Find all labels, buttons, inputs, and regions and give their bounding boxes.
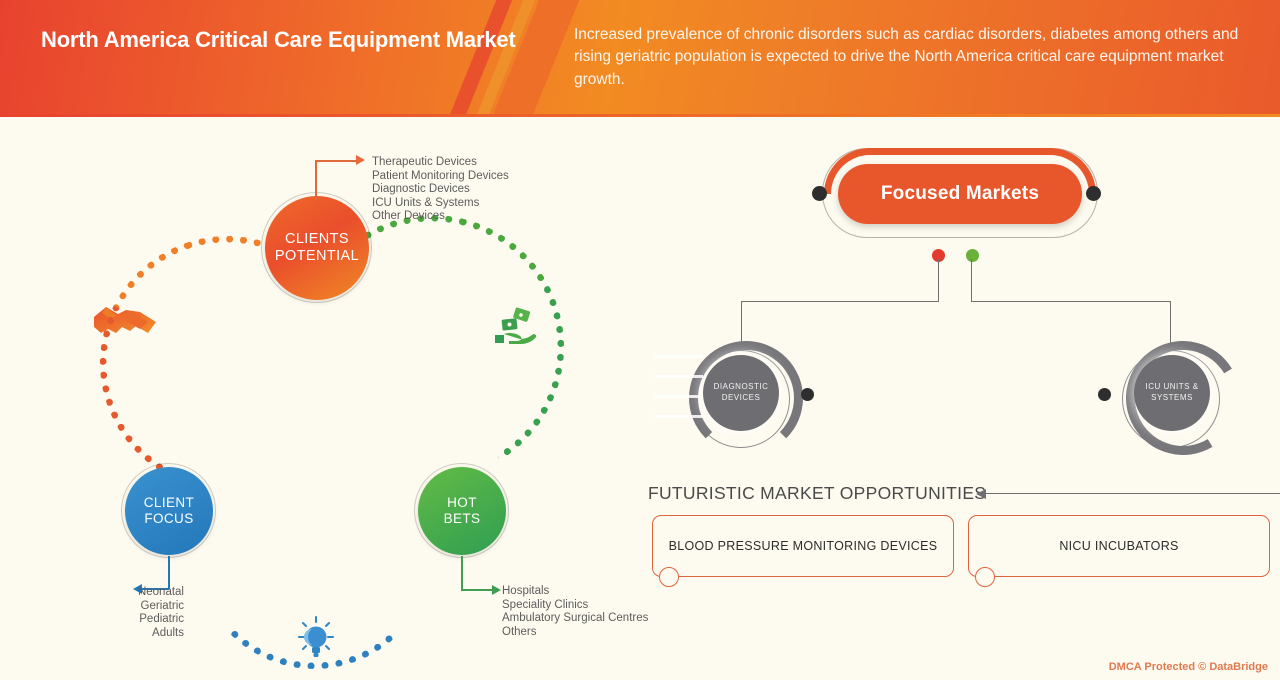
header-banner: North America Critical Care Equipment Ma… — [0, 0, 1280, 116]
opportunity-card-nicu-incubators[interactable]: NICU INCUBATORS — [968, 515, 1270, 577]
clients-potential-connector-vertical — [315, 161, 317, 201]
clients-potential-list: Therapeutic Devices Patient Monitoring D… — [372, 156, 509, 224]
list-item: Speciality Clinics — [502, 599, 648, 613]
icu-marker-dot — [966, 249, 979, 262]
hot-bets-connector-vertical — [461, 556, 463, 590]
focused-markets-right-dot — [1086, 186, 1101, 201]
decor-white-line-4 — [655, 415, 703, 418]
hot-bets-connector-horizontal — [461, 589, 492, 591]
hot-bets-label-line1: HOT — [444, 495, 481, 511]
icu-units-systems-label-line2: SYSTEMS — [1145, 393, 1198, 404]
clients-potential-label-line2: POTENTIAL — [275, 248, 359, 265]
diagnostic-devices-label-line2: DEVICES — [714, 393, 769, 404]
focused-markets-banner[interactable]: Focused Markets — [838, 164, 1082, 224]
icu-units-systems-side-dot — [1098, 388, 1111, 401]
futuristic-opportunities-title: FUTURISTIC MARKET OPPORTUNITIES — [648, 483, 986, 504]
money-in-hand-icon — [494, 307, 538, 349]
list-item: ICU Units & Systems — [372, 197, 509, 211]
decor-white-line-2 — [655, 375, 703, 378]
opportunity-label: BLOOD PRESSURE MONITORING DEVICES — [669, 539, 938, 553]
opportunity-label: NICU INCUBATORS — [1059, 539, 1178, 553]
header-description: Increased prevalence of chronic disorder… — [574, 24, 1254, 91]
list-item: Adults — [84, 627, 184, 641]
clients-potential-label-line1: CLIENTS — [275, 231, 359, 248]
connector-green-horizontal — [971, 301, 1171, 302]
copyright-notice: DMCA Protected © DataBridge — [1109, 661, 1268, 673]
client-focus-label-line2: FOCUS — [144, 511, 194, 527]
list-item: Neonatal — [84, 586, 184, 600]
opportunity-knob-1 — [659, 567, 679, 587]
focused-markets-left-dot — [812, 186, 827, 201]
clients-potential-node[interactable]: CLIENTS POTENTIAL — [265, 196, 369, 300]
list-item: Diagnostic Devices — [372, 183, 509, 197]
list-item: Hospitals — [502, 585, 648, 599]
decor-white-line-3 — [655, 395, 703, 398]
connector-green-vertical — [971, 259, 972, 302]
hot-bets-list: Hospitals Speciality Clinics Ambulatory … — [502, 585, 648, 639]
list-item: Ambulatory Surgical Centres — [502, 612, 648, 626]
client-focus-node[interactable]: CLIENT FOCUS — [125, 467, 213, 555]
opportunity-card-blood-pressure[interactable]: BLOOD PRESSURE MONITORING DEVICES — [652, 515, 954, 577]
list-item: Patient Monitoring Devices — [372, 170, 509, 184]
focused-markets-title: Focused Markets — [881, 183, 1039, 205]
list-item: Geriatric — [84, 600, 184, 614]
diagnostic-devices-label-line1: DIAGNOSTIC — [714, 382, 769, 393]
hot-bets-label-line2: BETS — [444, 511, 481, 527]
clients-potential-arrow-icon — [356, 155, 365, 165]
infographic-canvas: North America Critical Care Equipment Ma… — [0, 0, 1280, 680]
clients-potential-connector-horizontal — [315, 160, 360, 162]
diagnostic-devices-side-dot — [801, 388, 814, 401]
client-focus-list: Neonatal Geriatric Pediatric Adults — [84, 586, 184, 640]
futuristic-opportunities-arrow-line — [985, 493, 1280, 494]
list-item: Pediatric — [84, 613, 184, 627]
connector-red-vertical — [938, 259, 939, 302]
page-title: North America Critical Care Equipment Ma… — [41, 26, 561, 54]
client-focus-label-line1: CLIENT — [144, 495, 194, 511]
decor-white-line-1 — [655, 355, 703, 358]
hot-bets-node[interactable]: HOT BETS — [418, 467, 506, 555]
client-focus-connector-vertical — [168, 556, 170, 589]
hot-bets-arrow-icon — [492, 585, 501, 595]
futuristic-opportunities-arrow-icon — [976, 489, 986, 499]
list-item: Therapeutic Devices — [372, 156, 509, 170]
list-item: Other Devices — [372, 210, 509, 224]
connector-red-horizontal — [741, 301, 939, 302]
lightbulb-icon — [297, 616, 335, 658]
list-item: Others — [502, 626, 648, 640]
icu-units-systems-label-line1: ICU UNITS & — [1145, 382, 1198, 393]
header-bottom-rule — [0, 114, 1280, 117]
opportunity-knob-2 — [975, 567, 995, 587]
